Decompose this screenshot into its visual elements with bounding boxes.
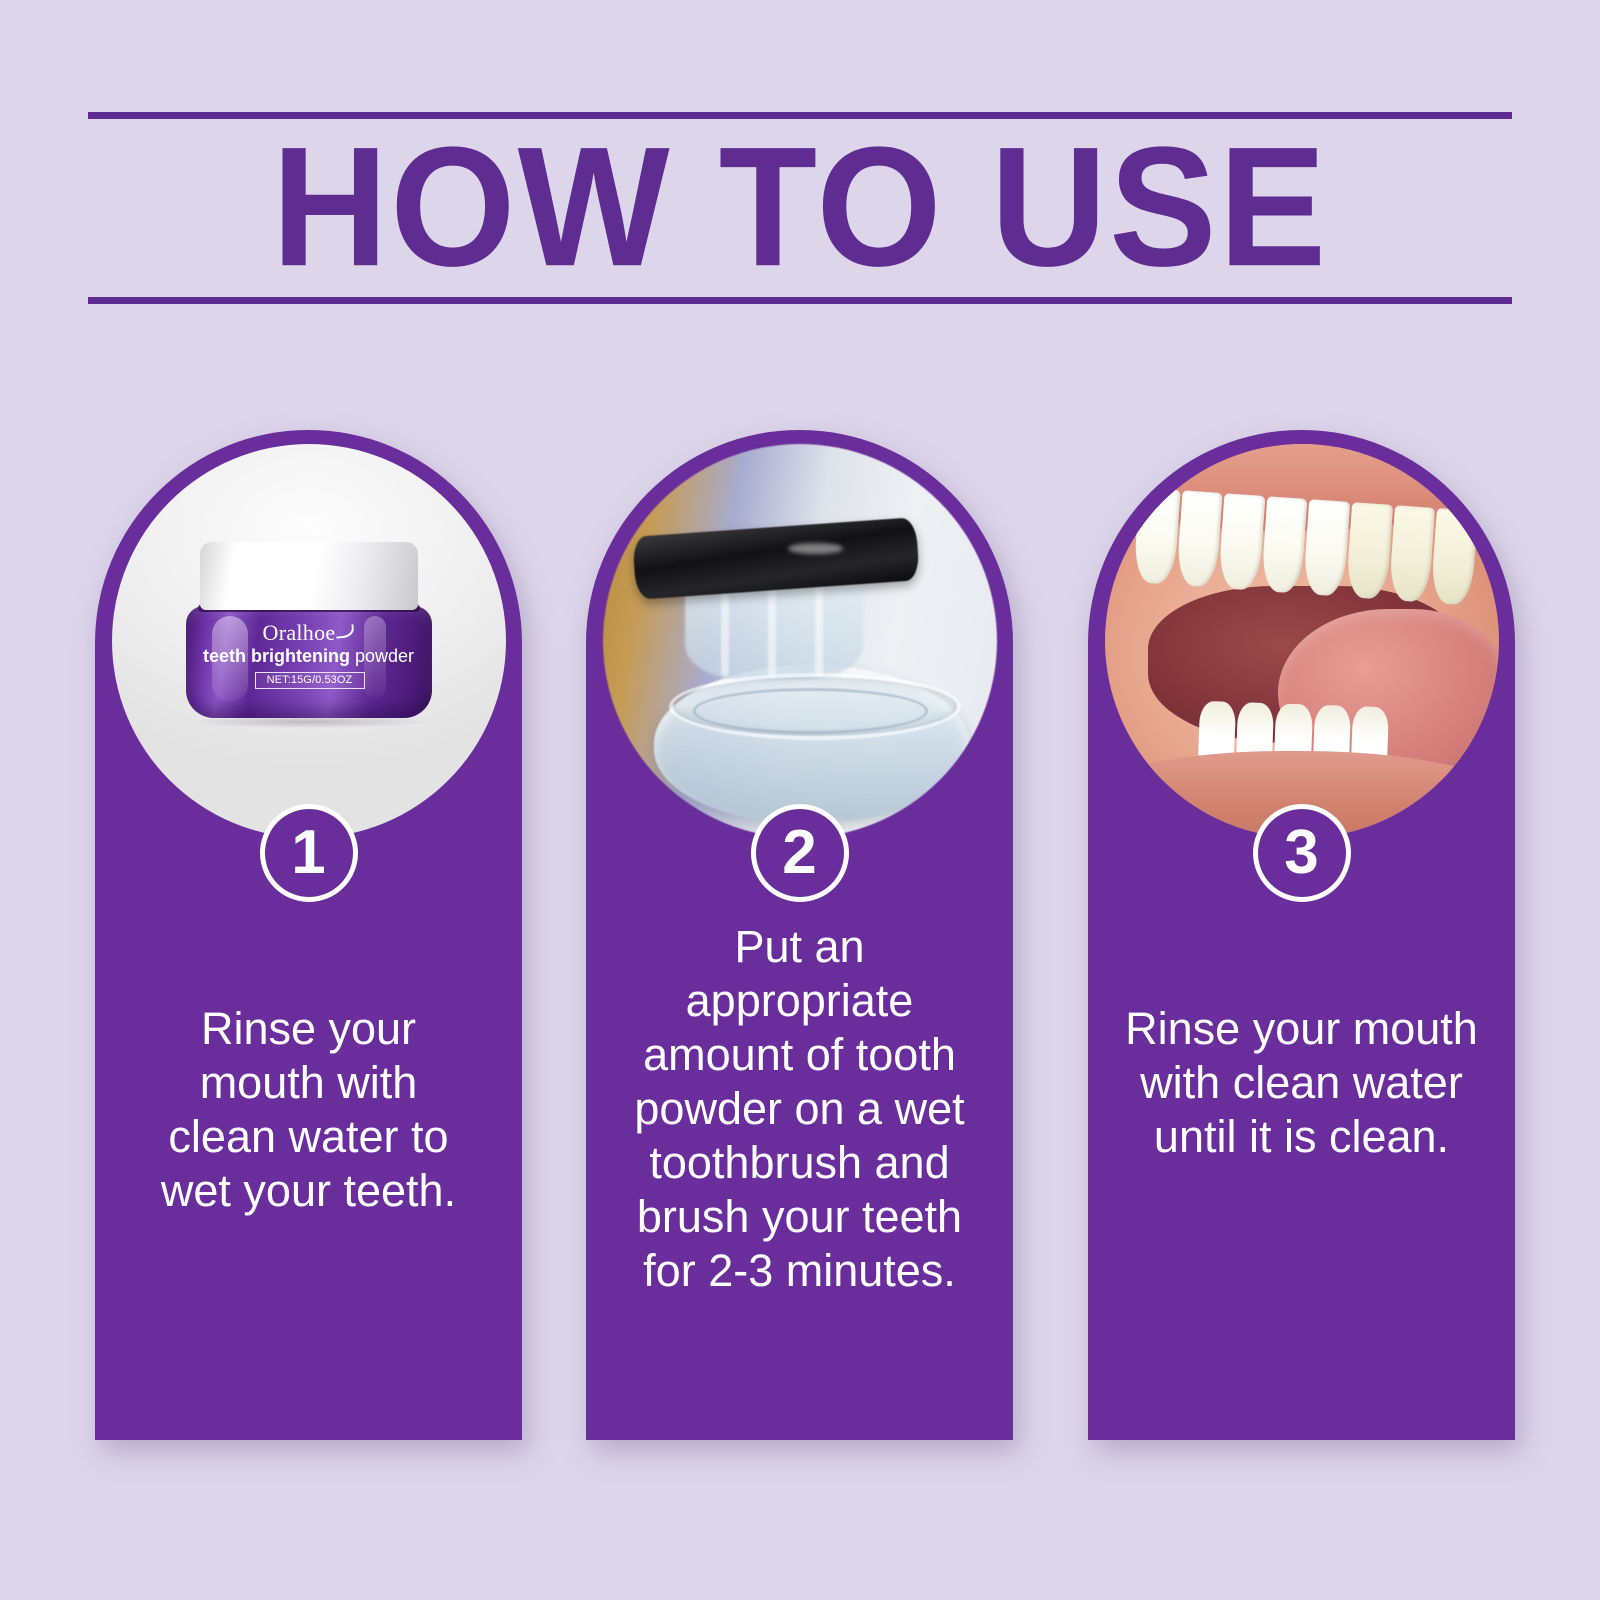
step-number-badge-2: 2: [751, 804, 849, 902]
glass-rim-inner: [693, 688, 928, 733]
tooth: [1431, 508, 1478, 605]
jar-lid: [200, 542, 418, 610]
water-streak-c: [815, 582, 823, 677]
step-caption-2: Put an appropriate amount of tooth powde…: [600, 920, 999, 1298]
jar-product-name: teeth brightening powder: [186, 646, 432, 667]
step-number-badge-1: 1: [260, 804, 358, 902]
step-card-1: Oralhoe teeth brightening powder NET:15G…: [95, 430, 522, 1440]
tooth: [1261, 496, 1308, 593]
jar-scene: Oralhoe teeth brightening powder NET:15G…: [112, 444, 506, 838]
toothbrush-highlight: [788, 543, 843, 555]
tooth: [1176, 490, 1223, 587]
toothbrush-head: [632, 517, 919, 600]
water-streak-b: [768, 582, 776, 677]
tooth: [1303, 499, 1350, 596]
title-rule-bottom: [88, 297, 1512, 304]
water-scene: [603, 444, 997, 838]
water-streak-a: [721, 582, 729, 677]
steps-row: Oralhoe teeth brightening powder NET:15G…: [0, 430, 1600, 1460]
step-panel-2: 2 Put an appropriate amount of tooth pow…: [586, 430, 1013, 1440]
tooth: [1388, 505, 1435, 602]
mouth-scene: [1105, 444, 1499, 838]
step-card-3: 3 Rinse your mouth with clean water unti…: [1088, 430, 1515, 1440]
brand-swoosh-icon: [336, 624, 355, 638]
open-mouth-white-teeth-photo: [1105, 444, 1499, 838]
teeth-brightening-powder-jar-photo: Oralhoe teeth brightening powder NET:15G…: [112, 444, 506, 838]
product-name-light: powder: [355, 646, 414, 666]
brand-text: Oralhoe: [263, 620, 336, 645]
tooth: [1218, 493, 1265, 590]
step-caption-3: Rinse your mouth with clean water until …: [1102, 1002, 1501, 1164]
tooth: [1133, 487, 1180, 584]
step-panel-3: 3 Rinse your mouth with clean water unti…: [1088, 430, 1515, 1440]
title-block: HOW TO USE: [88, 112, 1512, 307]
step-number-badge-3: 3: [1253, 804, 1351, 902]
toothbrush-under-running-water-photo: [603, 444, 997, 838]
product-name-bold: teeth brightening: [203, 646, 350, 666]
page-title: HOW TO USE: [45, 105, 1554, 309]
step-caption-1: Rinse your mouth with clean water to wet…: [109, 1002, 508, 1218]
jar-net-weight: NET:15G/0.53OZ: [255, 672, 365, 689]
product-jar: Oralhoe teeth brightening powder NET:15G…: [186, 542, 432, 724]
tooth: [1346, 502, 1393, 599]
step-panel-1: Oralhoe teeth brightening powder NET:15G…: [95, 430, 522, 1440]
jar-brand-label: Oralhoe: [186, 620, 432, 646]
step-card-2: 2 Put an appropriate amount of tooth pow…: [586, 430, 1013, 1440]
